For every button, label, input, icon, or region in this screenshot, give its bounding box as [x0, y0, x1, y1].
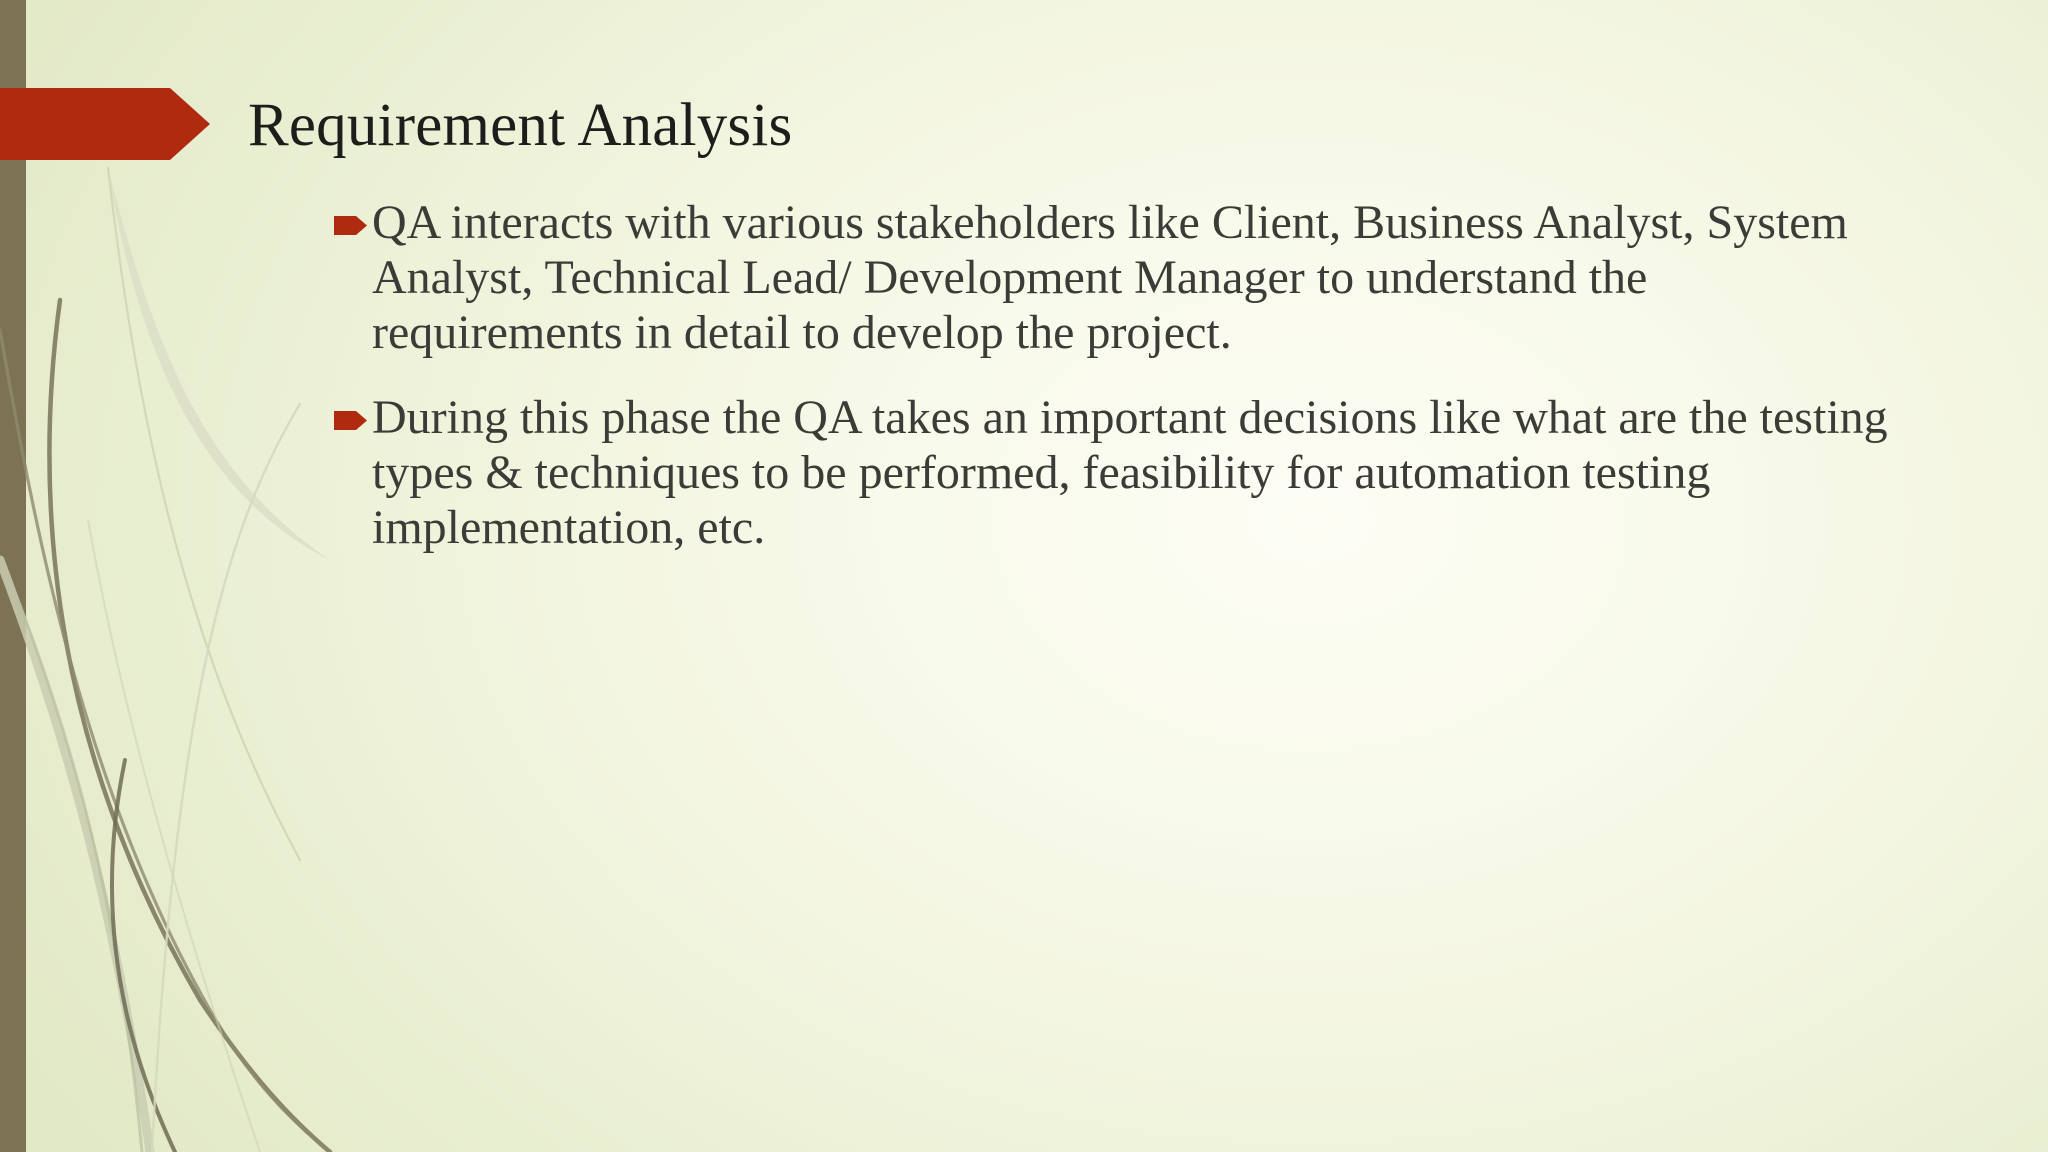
slide-body: QA interacts with various stakeholders l…: [330, 196, 1890, 556]
list-item-text: QA interacts with various stakeholders l…: [372, 196, 1890, 361]
left-accent-band: [0, 0, 26, 1152]
red-arrow-bullet-icon: [334, 214, 367, 237]
presentation-slide: Requirement Analysis QA interacts with v…: [0, 0, 2048, 1152]
list-item: QA interacts with various stakeholders l…: [330, 196, 1890, 361]
list-item-text: During this phase the QA takes an import…: [372, 391, 1890, 556]
red-arrow-bullet-icon: [334, 409, 367, 432]
slide-title: Requirement Analysis: [248, 92, 1748, 160]
list-item: During this phase the QA takes an import…: [330, 391, 1890, 556]
decorative-reed-curves: [0, 0, 520, 1152]
title-arrow-banner: [0, 88, 210, 160]
